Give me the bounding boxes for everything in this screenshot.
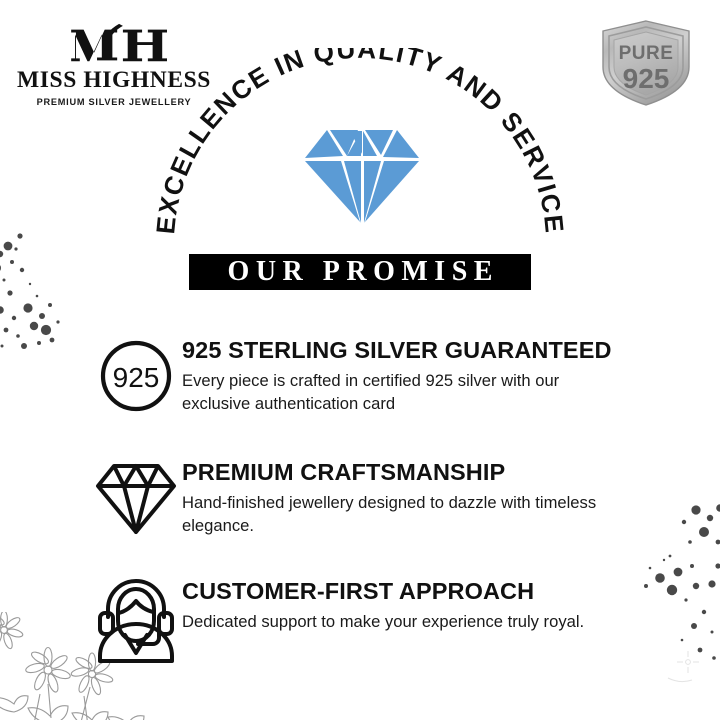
circle-925-icon-label: 925	[113, 362, 160, 393]
feature-row: 925 925 STERLING SILVER GUARANTEED Every…	[90, 336, 680, 415]
feature-row: PREMIUM CRAFTSMANSHIP Hand-finished jewe…	[90, 458, 680, 537]
headset-support-icon	[90, 577, 182, 663]
feature-text: CUSTOMER-FIRST APPROACH Dedicated suppor…	[182, 577, 680, 634]
ink-splatter-decoration-left	[0, 150, 130, 350]
diamond-outline-icon	[90, 458, 182, 536]
feature-row: CUSTOMER-FIRST APPROACH Dedicated suppor…	[90, 577, 680, 663]
promise-infographic-page: MISS HIGHNESS PREMIUM SILVER JEWELLERY P…	[0, 0, 720, 720]
feature-description: Hand-finished jewellery designed to dazz…	[182, 492, 612, 538]
promise-banner-label: OUR PROMISE	[221, 258, 499, 286]
feature-text: 925 STERLING SILVER GUARANTEED Every pie…	[182, 336, 680, 415]
badge-line1: PURE	[619, 43, 674, 64]
badge-line2: 925	[623, 63, 670, 94]
feature-description: Dedicated support to make your experienc…	[182, 611, 612, 634]
feature-description: Every piece is crafted in certified 925 …	[182, 370, 612, 416]
promise-banner: OUR PROMISE	[186, 251, 534, 293]
diamond-icon	[303, 122, 421, 226]
feature-title: CUSTOMER-FIRST APPROACH	[182, 579, 680, 604]
feature-title: PREMIUM CRAFTSMANSHIP	[182, 460, 680, 485]
circle-925-icon: 925	[90, 336, 182, 414]
pure-925-shield-icon: PURE 925	[596, 18, 696, 108]
feature-text: PREMIUM CRAFTSMANSHIP Hand-finished jewe…	[182, 458, 680, 537]
feature-title: 925 STERLING SILVER GUARANTEED	[182, 338, 680, 363]
